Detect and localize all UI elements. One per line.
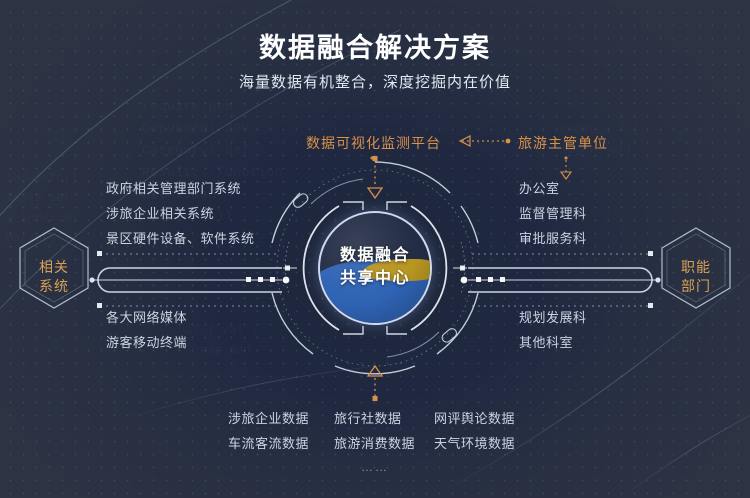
table-row: 车流客流数据 旅游消费数据 天气环境数据 [228,431,522,456]
center-label-line1: 数据融合 [320,244,430,267]
connector-right-rail [461,251,661,308]
list-left-top: 政府相关管理部门系统 涉旅企业相关系统 景区硬件设备、软件系统 [106,176,255,251]
list-right-bottom: 规划发展科 其他科室 [519,305,587,355]
code-watermark-3: if ( val ) map.add [186,320,258,360]
list-left-bottom: 各大网络媒体 游客移动终端 [106,305,187,355]
label-visualization-platform: 数据可视化监测平台 [306,133,441,153]
list-item: 涉旅企业相关系统 [106,201,255,226]
list-item: 旅行社数据 [334,406,434,431]
bottom-ellipsis: …… [0,460,750,474]
page-title: 数据融合解决方案 [0,26,750,65]
list-item: 其他科室 [519,330,587,355]
hexagon-right-label-line2: 部门 [661,277,731,296]
arrow-up-to-center [368,366,382,401]
list-item: 车流客流数据 [228,431,334,456]
hexagon-left-label: 相关 系统 [19,258,89,296]
table-row: 涉旅企业数据 旅行社数据 网评舆论数据 [228,406,522,431]
list-item: 各大网络媒体 [106,305,187,330]
connector-platform-authority [460,136,510,146]
list-item: 监督管理科 [519,201,587,226]
list-right-top: 办公室 监督管理科 审批服务科 [519,176,587,251]
center-label-line2: 共享中心 [320,267,430,290]
page-subtitle: 海量数据有机整合，深度挖掘内在价值 [0,71,750,92]
center-label: 数据融合 共享中心 [320,244,430,290]
list-item: 政府相关管理部门系统 [106,176,255,201]
list-item: 旅游消费数据 [334,431,434,456]
list-item: 景区硬件设备、软件系统 [106,226,255,251]
list-item: 涉旅企业数据 [228,406,334,431]
list-item: 网评舆论数据 [434,406,522,431]
list-item: 办公室 [519,176,587,201]
infographic-canvas: require.pem Copybord: 20V Category: def … [0,0,750,498]
list-item: 规划发展科 [519,305,587,330]
hexagon-right-label-line1: 职能 [661,258,731,277]
hexagon-left-label-line1: 相关 [19,258,89,277]
hexagon-left-label-line2: 系统 [19,277,89,296]
list-item: 游客移动终端 [106,330,187,355]
list-item: 审批服务科 [519,226,587,251]
connector-left-rail [89,251,289,308]
bottom-data-sources: 涉旅企业数据 旅行社数据 网评舆论数据 车流客流数据 旅游消费数据 天气环境数据 [228,406,522,456]
label-tourism-authority: 旅游主管单位 [518,133,608,153]
list-item: 天气环境数据 [434,431,522,456]
hexagon-right-label: 职能 部门 [661,258,731,296]
label-anchor-dots [370,156,567,159]
arrow-down-to-center [368,156,382,198]
